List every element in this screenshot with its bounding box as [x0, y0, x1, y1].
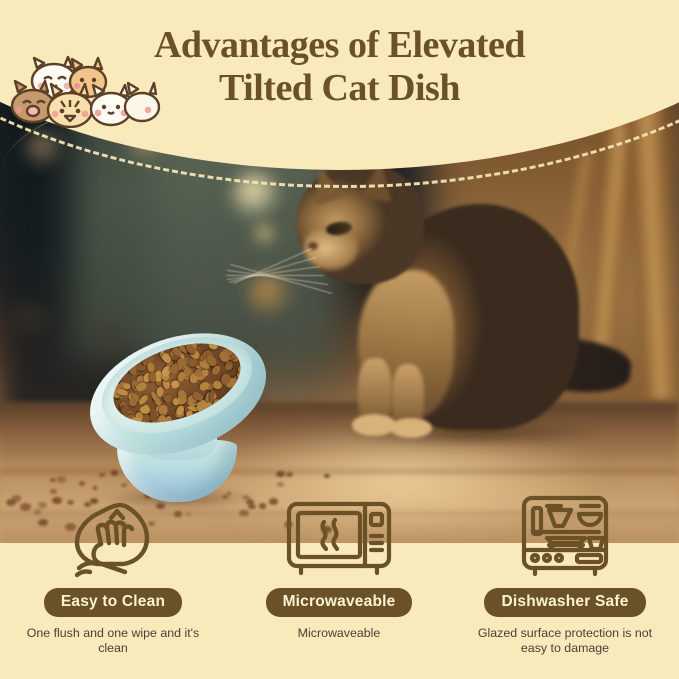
- microwave-icon: [226, 498, 452, 580]
- feature-desc-microwaveable: Microwaveable: [226, 626, 452, 641]
- feature-label-microwaveable: Microwaveable: [266, 588, 413, 617]
- cat-cluster-svg: [4, 48, 164, 128]
- feature-label-easy-to-clean: Easy to Clean: [44, 588, 182, 617]
- kibble-piece: [130, 417, 142, 425]
- kibble-piece: [123, 383, 130, 389]
- cat-paw-right: [390, 418, 432, 438]
- floor-kibble: [277, 482, 284, 487]
- infographic-page: Advantages of Elevated Tilted Cat Dish: [0, 0, 679, 679]
- kawaii-cat-cluster: [4, 48, 164, 128]
- tabby-cat-photo: [286, 152, 616, 482]
- bokeh-light: [230, 170, 282, 222]
- features-section: Easy to Clean One flush and one wipe and…: [0, 543, 679, 679]
- hand-wiping-cloth-icon: [0, 498, 226, 580]
- cat-ear-left: [305, 162, 345, 206]
- bokeh-light: [127, 123, 167, 163]
- bokeh-light: [8, 300, 52, 344]
- pale-cat-back: [125, 83, 159, 121]
- dishwasher-icon: [452, 498, 678, 580]
- floor-kibble: [57, 476, 66, 483]
- bokeh-light: [23, 129, 65, 171]
- feature-dishwasher-safe[interactable]: Dishwasher Safe Glazed surface protectio…: [452, 498, 678, 656]
- feature-microwaveable[interactable]: Microwaveable Microwaveable: [226, 498, 452, 641]
- kibble-piece: [198, 380, 211, 392]
- bokeh-light: [200, 112, 228, 140]
- bokeh-light: [226, 120, 270, 164]
- kibble-piece: [223, 337, 230, 347]
- kibble-piece: [220, 373, 230, 385]
- floor-kibble: [276, 471, 284, 477]
- elevated-tilted-cat-dish: [85, 332, 270, 512]
- feature-desc-dishwasher-safe: Glazed surface protection is not easy to…: [452, 626, 678, 656]
- floor-kibble: [50, 478, 56, 482]
- kibble-piece: [164, 394, 173, 403]
- feature-label-dishwasher-safe: Dishwasher Safe: [484, 588, 645, 617]
- cat-paw-left: [352, 414, 396, 436]
- bokeh-light: [253, 223, 277, 247]
- cat-ear-right: [359, 158, 396, 202]
- feature-easy-to-clean[interactable]: Easy to Clean One flush and one wipe and…: [0, 498, 226, 656]
- feature-desc-easy-to-clean: One flush and one wipe and it's clean: [0, 626, 226, 656]
